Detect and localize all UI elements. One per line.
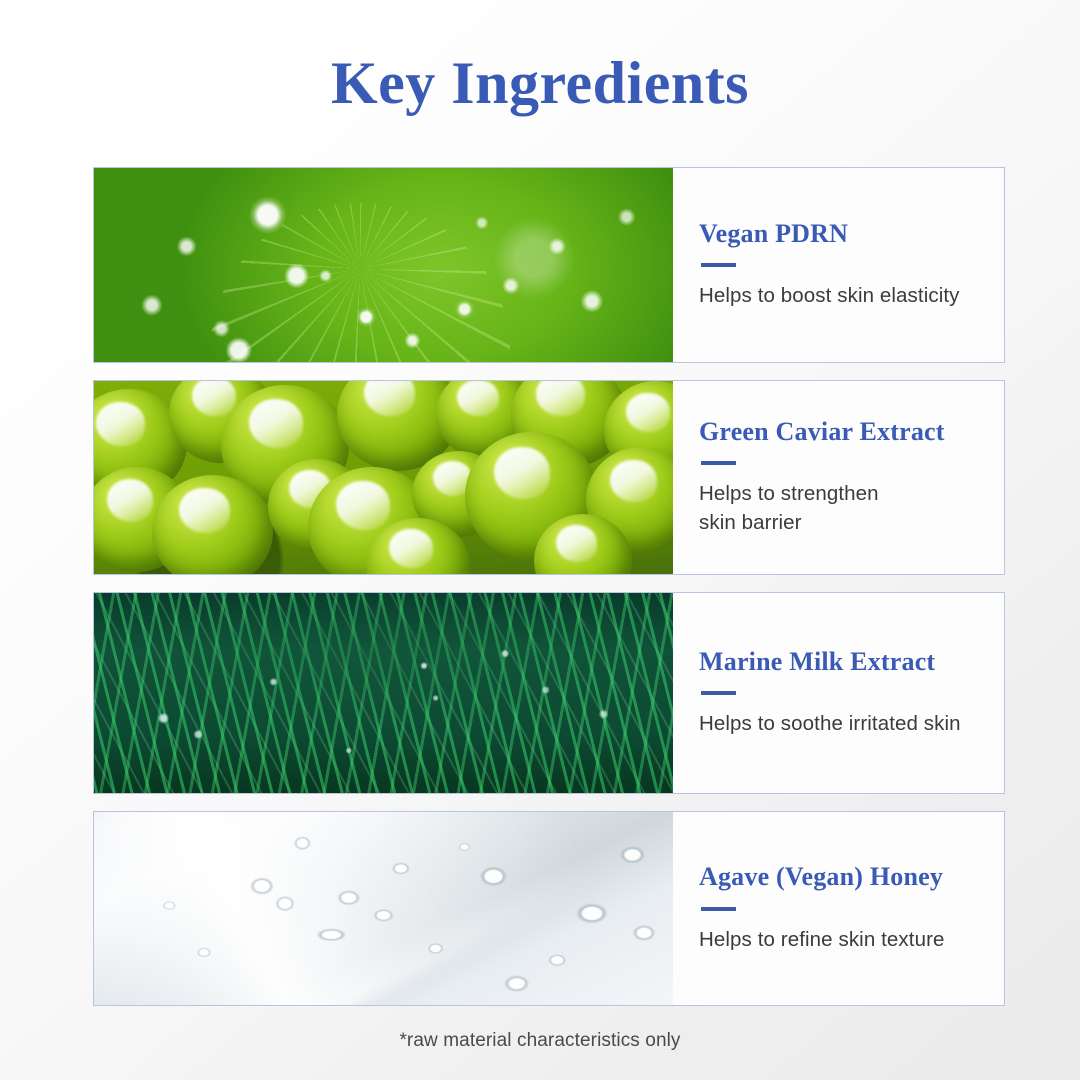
divider-rule: [701, 907, 736, 911]
caviar-photo-art: [94, 381, 673, 575]
page-title: Key Ingredients: [0, 52, 1080, 115]
gel-texture-photo-art: [94, 812, 673, 1006]
ingredient-text-panel: Green Caviar Extract Helps to strengthen…: [673, 381, 1004, 574]
ingredient-card[interactable]: Agave (Vegan) Honey Helps to refine skin…: [93, 811, 1005, 1006]
ingredient-name: Marine Milk Extract: [699, 648, 978, 677]
ingredient-text-panel: Agave (Vegan) Honey Helps to refine skin…: [673, 812, 1004, 1005]
divider-rule: [701, 461, 736, 465]
ingredient-name: Agave (Vegan) Honey: [699, 863, 978, 892]
divider-rule: [701, 691, 736, 695]
ingredient-image-agave-vegan-honey: [94, 812, 673, 1006]
ingredient-image-vegan-pdrn: [94, 168, 673, 363]
ingredient-name: Vegan PDRN: [699, 220, 978, 249]
ingredient-description: Helps to soothe irritated skin: [699, 709, 978, 738]
ingredient-card[interactable]: Green Caviar Extract Helps to strengthen…: [93, 380, 1005, 575]
leaf-photo-art: [94, 168, 673, 363]
ingredient-name: Green Caviar Extract: [699, 418, 978, 447]
ingredient-image-green-caviar-extract: [94, 381, 673, 575]
ingredient-description: Helps to boost skin elasticity: [699, 281, 978, 310]
ingredient-text-panel: Vegan PDRN Helps to boost skin elasticit…: [673, 168, 1004, 362]
ingredient-card-list: Vegan PDRN Helps to boost skin elasticit…: [93, 167, 1005, 1023]
seagrass-photo-art: [94, 593, 673, 794]
ingredient-image-marine-milk-extract: [94, 593, 673, 794]
ingredient-card[interactable]: Vegan PDRN Helps to boost skin elasticit…: [93, 167, 1005, 363]
footnote-disclaimer: *raw material characteristics only: [0, 1030, 1080, 1052]
ingredient-card[interactable]: Marine Milk Extract Helps to soothe irri…: [93, 592, 1005, 794]
ingredient-description: Helps to refine skin texture: [699, 925, 978, 954]
ingredient-text-panel: Marine Milk Extract Helps to soothe irri…: [673, 593, 1004, 793]
ingredient-description: Helps to strengthen skin barrier: [699, 479, 978, 537]
divider-rule: [701, 263, 736, 267]
